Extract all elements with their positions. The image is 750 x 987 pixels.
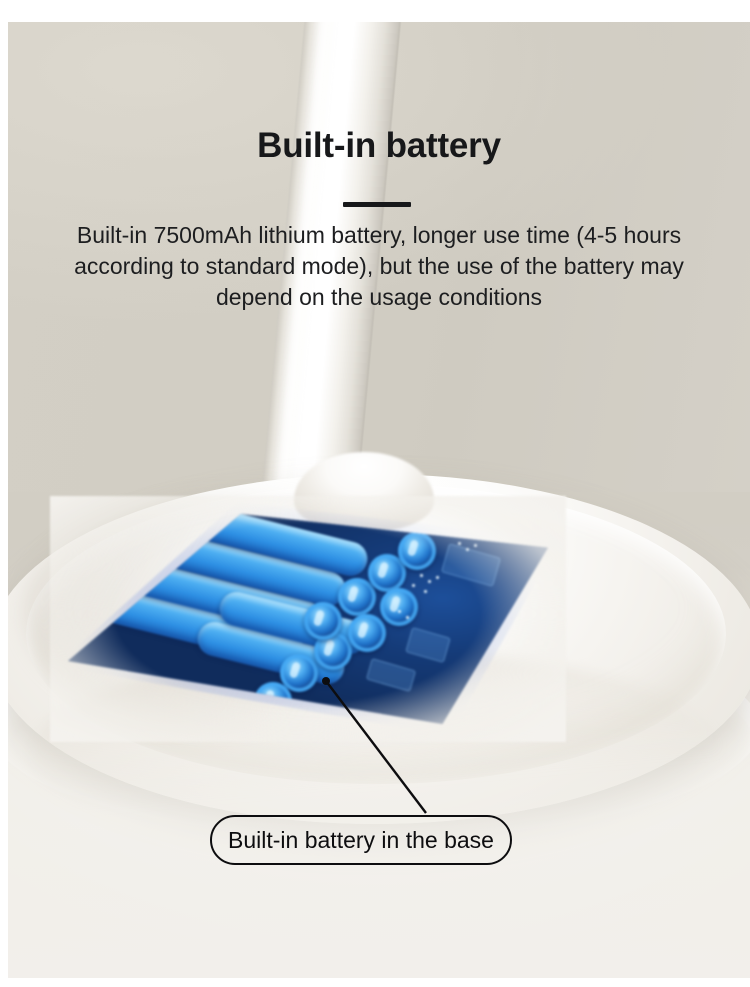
- poster-canvas: Built-in battery in the base Built-in ba…: [8, 22, 750, 978]
- page-description: Built-in 7500mAh lithium battery, longer…: [38, 220, 720, 313]
- product-feature-poster: Built-in battery in the base Built-in ba…: [0, 0, 750, 987]
- callout-label: Built-in battery in the base: [228, 827, 494, 854]
- page-title: Built-in battery: [8, 126, 750, 166]
- title-divider: [343, 202, 411, 207]
- callout-pill[interactable]: Built-in battery in the base: [210, 815, 512, 865]
